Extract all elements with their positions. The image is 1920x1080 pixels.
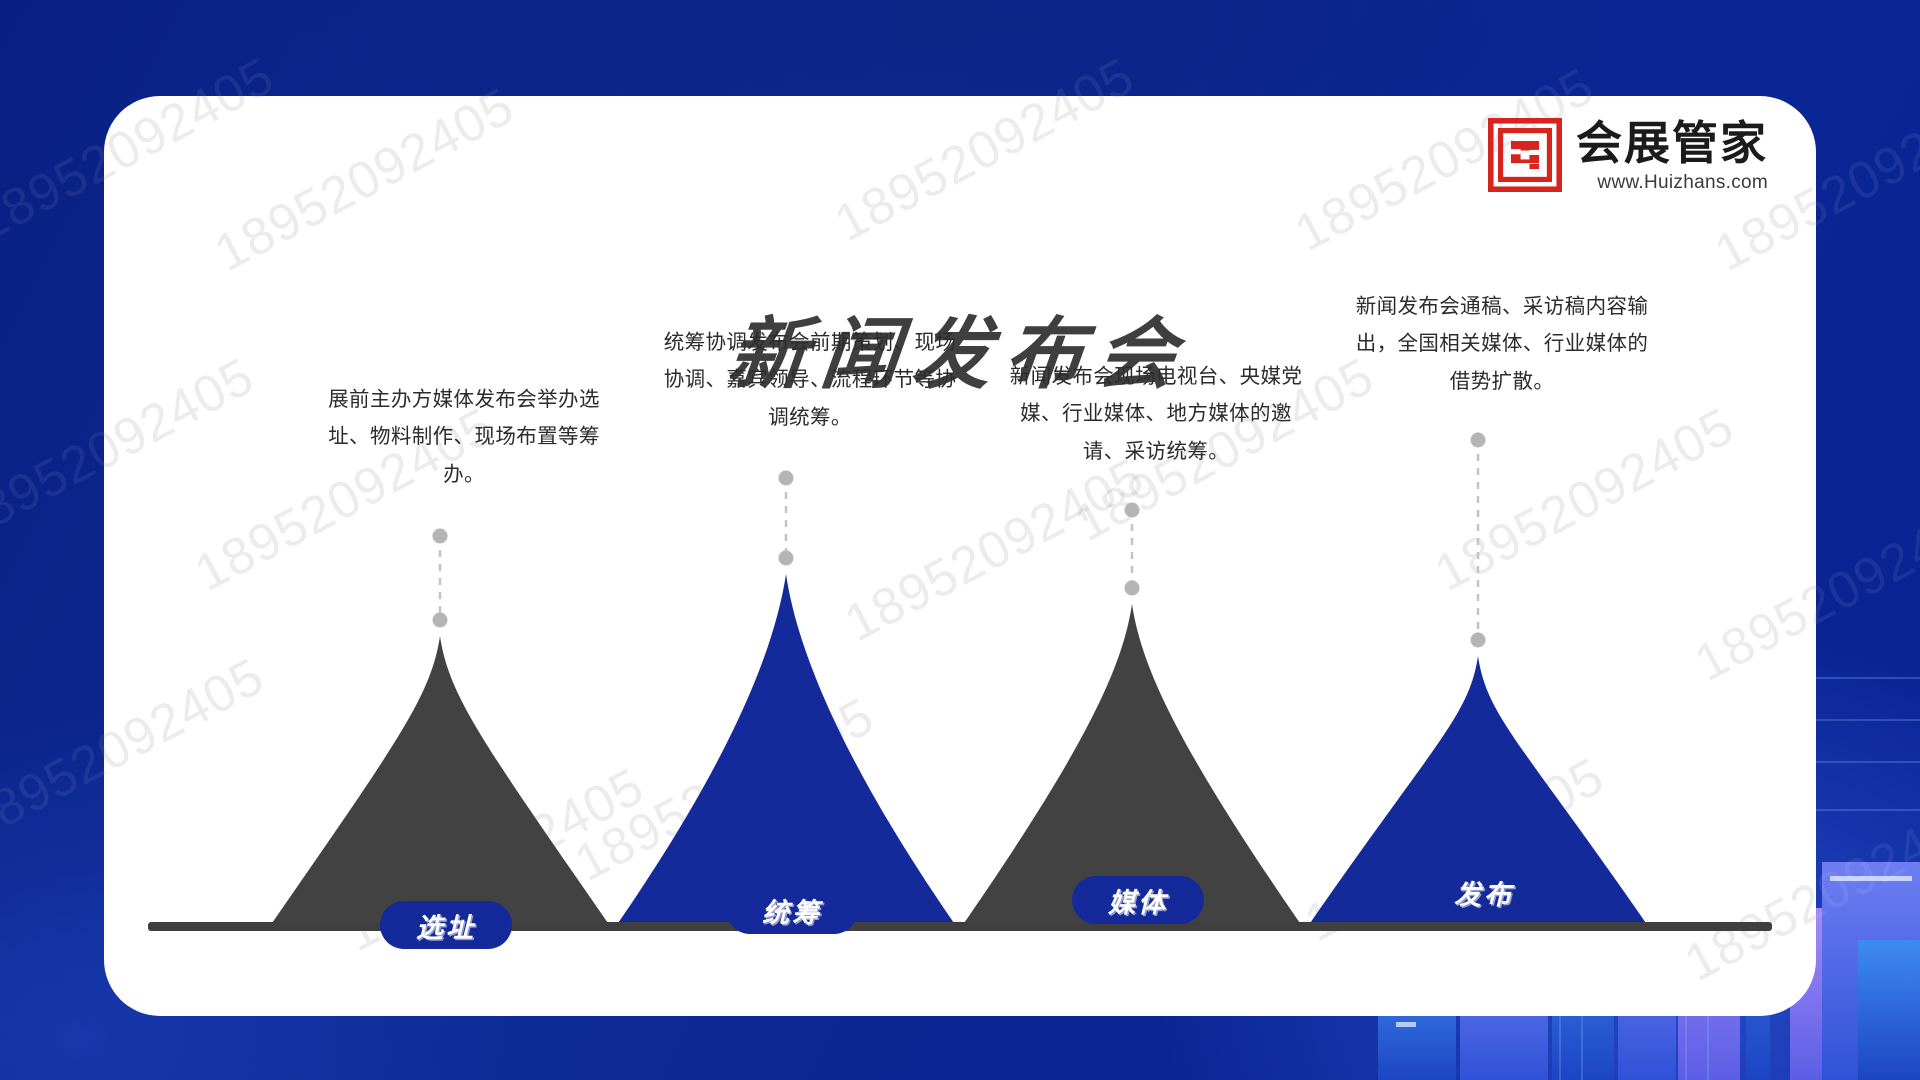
connector-top-dot-2: [779, 471, 794, 486]
connector-bottom-dot-4: [1471, 633, 1486, 648]
step-pill-统筹[interactable]: 统筹: [726, 886, 858, 934]
peak-shape-1: [270, 636, 610, 926]
slide-stage: 1895209240518952092405189520924051895209…: [0, 0, 1920, 1080]
step-description-4: 新闻发布会通稿、采访稿内容输出，全国相关媒体、行业媒体的借势扩散。: [1352, 288, 1652, 400]
connector-bottom-dot-1: [433, 613, 448, 628]
connector-top-dot-1: [433, 529, 448, 544]
step-description-3: 新闻发布会现场电视台、央媒党媒、行业媒体、地方媒体的邀请、采访统筹。: [1006, 358, 1306, 470]
process-peaks-chart: 展前主办方媒体发布会举办选址、物料制作、现场布置等筹办。统筹协调发布会前期策划、…: [104, 96, 1816, 1016]
step-description-1: 展前主办方媒体发布会举办选址、物料制作、现场布置等筹办。: [314, 381, 614, 493]
step-pill-发布[interactable]: 发布: [1418, 868, 1550, 916]
connector-top-dot-4: [1471, 433, 1486, 448]
step-pill-媒体[interactable]: 媒体: [1072, 876, 1204, 924]
content-card: 1895209240518952092405189520924051895209…: [104, 96, 1816, 1016]
step-pill-选址[interactable]: 选址: [380, 901, 512, 949]
connector-bottom-dot-3: [1125, 581, 1140, 596]
peak-shape-2: [616, 574, 956, 926]
connector-bottom-dot-2: [779, 551, 794, 566]
peaks-svg: [104, 96, 1816, 1016]
connector-top-dot-3: [1125, 503, 1140, 518]
step-description-2: 统筹协调发布会前期策划、现场协调、嘉宾领导、流程环节等协调统筹。: [660, 324, 960, 436]
